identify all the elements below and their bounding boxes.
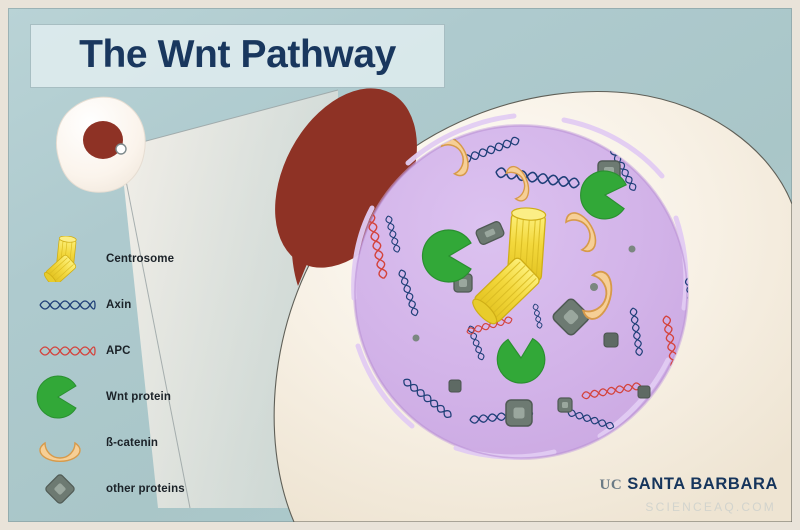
legend-item-wnt: Wnt protein (36, 374, 246, 420)
legend: Centrosome Axin (36, 236, 246, 512)
page-title: The Wnt Pathway (79, 35, 396, 74)
legend-label-axin: Axin (106, 299, 131, 311)
legend-item-apc: APC (36, 328, 246, 374)
inset-nucleus (83, 121, 123, 159)
other-protein-icon (36, 466, 98, 512)
legend-item-centrosome: Centrosome (36, 236, 246, 282)
wnt-pathway-figure: The Wnt Pathway (0, 0, 800, 530)
legend-item-axin: Axin (36, 282, 246, 328)
watermark: SCIENCEAQ.COM (645, 500, 776, 514)
centrosome-icon (36, 236, 98, 282)
title-box: The Wnt Pathway (30, 24, 445, 88)
beta-catenin-icon (36, 420, 98, 466)
axin-helix-icon (36, 282, 98, 328)
legend-label-beta-catenin: ß-catenin (106, 437, 158, 449)
apc-helix-icon (36, 328, 98, 374)
wnt-pacman-icon (36, 374, 98, 420)
ucsb-wordmark: UC SANTA BARBARA (600, 475, 778, 494)
ucsb-uc-text: UC (600, 477, 623, 494)
ucsb-campus-text: SANTA BARBARA (627, 475, 778, 494)
illustration-canvas: The Wnt Pathway (8, 8, 792, 522)
legend-item-other-proteins: other proteins (36, 466, 246, 512)
legend-item-beta-catenin: ß-catenin (36, 420, 246, 466)
whole-cell-inset (56, 97, 145, 192)
legend-label-other-proteins: other proteins (106, 483, 185, 495)
magnification-point (116, 144, 126, 154)
legend-label-wnt: Wnt protein (106, 391, 171, 403)
legend-label-apc: APC (106, 345, 131, 357)
legend-label-centrosome: Centrosome (106, 253, 174, 265)
